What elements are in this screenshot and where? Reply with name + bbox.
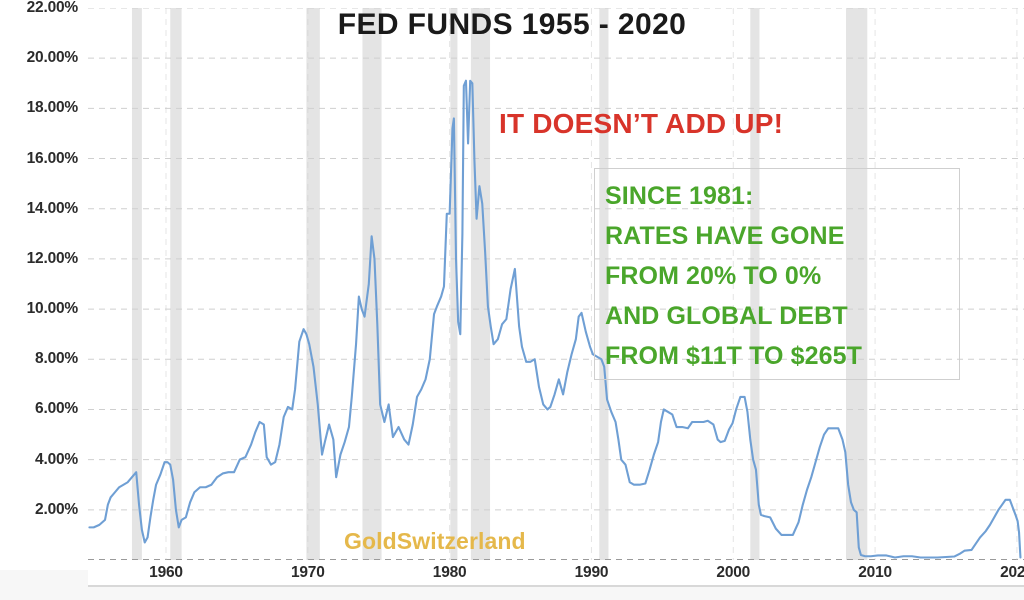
y-axis-tick-label: 16.00% <box>27 150 78 168</box>
x-axis-tick-label: 2020 <box>1000 564 1024 582</box>
x-axis-tick-label: 1980 <box>433 564 467 582</box>
x-axis-tick-label: 1990 <box>575 564 609 582</box>
y-axis-tick-label: 18.00% <box>27 99 78 117</box>
callout-line-5: FROM $11T TO $265T <box>605 336 959 376</box>
y-axis-tick-label: 14.00% <box>27 200 78 218</box>
y-axis-tick-label: 2.00% <box>35 501 78 519</box>
x-axis-tick-label: 1970 <box>291 564 325 582</box>
chart-title: FED FUNDS 1955 - 2020 <box>0 8 1024 42</box>
y-axis-tick-label: 8.00% <box>35 350 78 368</box>
x-axis-tick-label: 2000 <box>716 564 750 582</box>
callout-line-1: SINCE 1981: <box>605 176 959 216</box>
x-axis-tick-label: 1960 <box>149 564 183 582</box>
x-axis: 1960197019801990200020102020 <box>88 562 1024 592</box>
callout-line-4: AND GLOBAL DEBT <box>605 296 959 336</box>
recession-band <box>306 8 319 560</box>
chart-screenshot: 22.00%20.00%18.00%16.00%14.00%12.00%10.0… <box>0 0 1024 600</box>
source-watermark: GoldSwitzerland <box>344 528 526 555</box>
callout-line-2: RATES HAVE GONE <box>605 216 959 256</box>
recession-band <box>362 8 381 560</box>
callout-annotation-box: SINCE 1981: RATES HAVE GONE FROM 20% TO … <box>594 168 960 380</box>
x-axis-tick-label: 2010 <box>858 564 892 582</box>
y-axis-tick-label: 10.00% <box>27 300 78 318</box>
left-frame-strip <box>0 570 88 600</box>
callout-line-3: FROM 20% TO 0% <box>605 256 959 296</box>
y-axis-tick-label: 6.00% <box>35 400 78 418</box>
y-axis-tick-label: 12.00% <box>27 250 78 268</box>
y-axis-tick-label: 20.00% <box>27 49 78 67</box>
y-axis-tick-label: 4.00% <box>35 451 78 469</box>
headline-annotation: IT DOESN’T ADD UP! <box>499 108 783 140</box>
y-axis: 22.00%20.00%18.00%16.00%14.00%12.00%10.0… <box>0 0 86 568</box>
